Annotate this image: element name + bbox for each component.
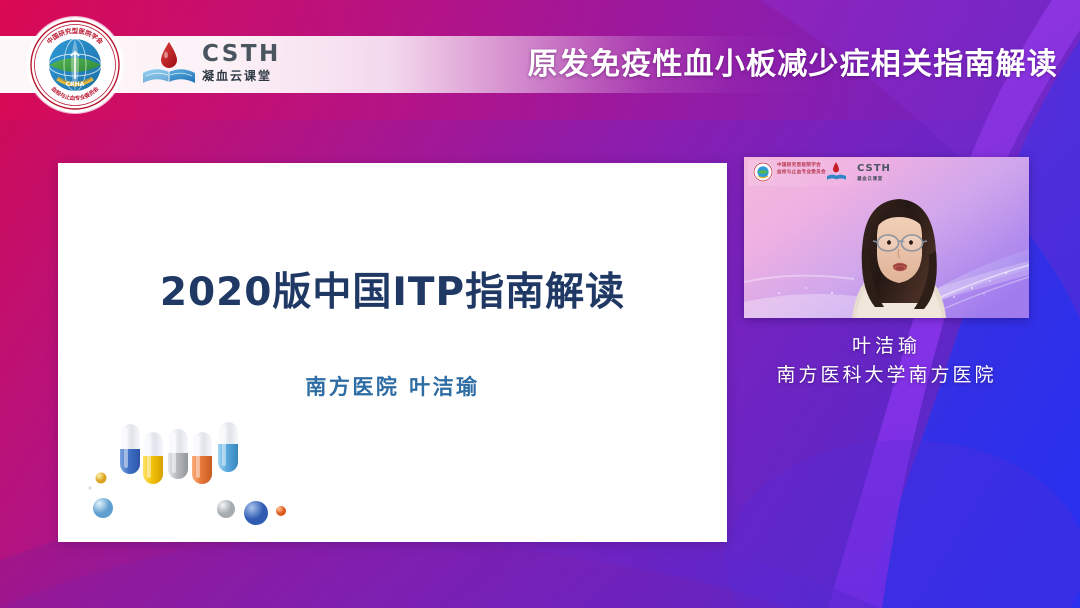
slide-title: 2020版中国ITP指南解读	[58, 261, 727, 317]
capsule-yellow	[143, 432, 163, 484]
speaker-organization: 南方医科大学南方医院	[744, 360, 1029, 390]
slide-subtitle: 南方医院 叶洁瑜	[58, 371, 727, 401]
bead-blue	[244, 501, 268, 525]
presentation-slide[interactable]: 2020版中国ITP指南解读 南方医院 叶洁瑜	[58, 163, 727, 542]
video-overlay-csth-sub: 凝血云课堂	[857, 176, 883, 182]
capsule-lightblue	[218, 422, 238, 472]
video-overlay-org-line1: 中国研究型医院学会	[777, 162, 821, 169]
speaker-video-panel[interactable]: 中国研究型医院学会 血栓与止血专业委员会 CSTH 凝血云课堂	[744, 157, 1029, 318]
bead-tiny	[88, 486, 91, 489]
capsule-gray	[168, 429, 188, 479]
video-background	[744, 157, 1029, 318]
bead-lightblue	[93, 498, 113, 518]
capsule-illustration	[78, 406, 368, 536]
bead-yellow	[96, 473, 107, 484]
bead-orange	[276, 506, 286, 516]
speaker-caption: 叶洁瑜 南方医科大学南方医院	[744, 332, 1029, 390]
capsule-blue	[120, 424, 140, 474]
video-overlay-csth-word: CSTH	[857, 163, 891, 174]
bead-gray	[217, 500, 235, 518]
video-overlay-org-line2: 血栓与止血专业委员会	[777, 169, 826, 176]
speaker-name: 叶洁瑜	[744, 332, 1029, 360]
capsule-orange	[192, 432, 212, 484]
